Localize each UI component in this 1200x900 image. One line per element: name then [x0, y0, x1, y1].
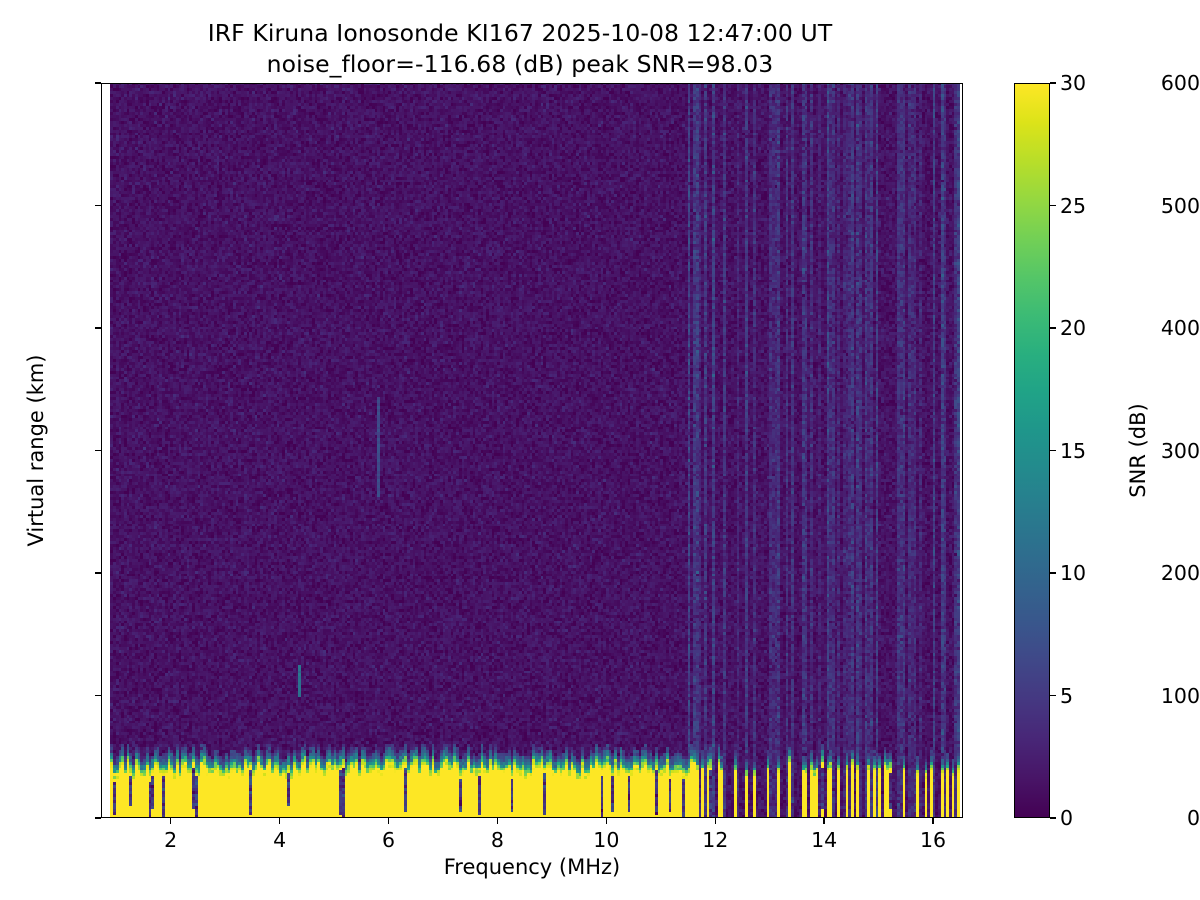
x-tick-mark [170, 818, 171, 824]
y-tick-mark [95, 817, 101, 818]
colorbar-tick-label: 0 [1060, 806, 1073, 830]
colorbar-tick-mark [1050, 82, 1056, 83]
colorbar-tick-mark [1050, 327, 1056, 328]
x-tick-label: 14 [789, 828, 859, 852]
colorbar-tick-mark [1050, 572, 1056, 573]
colorbar-tick-mark [1050, 695, 1056, 696]
colorbar-tick-label: 5 [1060, 684, 1073, 708]
x-tick-label: 8 [462, 828, 532, 852]
colorbar-tick-mark [1050, 450, 1056, 451]
title-line-primary: IRF Kiruna Ionosonde KI167 2025-10-08 12… [0, 18, 1040, 49]
x-tick-label: 4 [245, 828, 315, 852]
y-tick-mark [95, 572, 101, 573]
x-tick-label: 16 [898, 828, 968, 852]
colorbar[interactable] [1014, 83, 1050, 818]
colorbar-gradient [1015, 84, 1049, 817]
x-tick-mark [932, 818, 933, 824]
x-tick-mark [715, 818, 716, 824]
y-tick-mark [95, 450, 101, 451]
x-tick-mark [606, 818, 607, 824]
ionogram-figure: IRF Kiruna Ionosonde KI167 2025-10-08 12… [0, 0, 1200, 900]
x-tick-label: 12 [680, 828, 750, 852]
y-tick-mark [95, 82, 101, 83]
x-tick-label: 10 [571, 828, 641, 852]
y-axis-label: Virtual range (km) [24, 83, 48, 818]
colorbar-tick-label: 25 [1060, 194, 1086, 218]
y-tick-mark [95, 205, 101, 206]
title-line-secondary: noise_floor=-116.68 (dB) peak SNR=98.03 [0, 49, 1040, 80]
ionogram-heatmap[interactable] [102, 84, 963, 818]
x-tick-label: 2 [136, 828, 206, 852]
y-tick-mark [95, 695, 101, 696]
x-axis-label: Frequency (MHz) [101, 855, 963, 879]
colorbar-tick-label: 30 [1060, 71, 1086, 95]
plot-area[interactable] [101, 83, 963, 818]
y-tick-mark [95, 327, 101, 328]
colorbar-label: SNR (dB) [1126, 83, 1150, 818]
x-tick-mark [823, 818, 824, 824]
colorbar-tick-label: 20 [1060, 316, 1086, 340]
x-tick-label: 6 [354, 828, 424, 852]
x-tick-mark [497, 818, 498, 824]
colorbar-tick-mark [1050, 205, 1056, 206]
colorbar-tick-label: 10 [1060, 561, 1086, 585]
x-tick-mark [279, 818, 280, 824]
colorbar-tick-mark [1050, 817, 1056, 818]
chart-title: IRF Kiruna Ionosonde KI167 2025-10-08 12… [0, 18, 1040, 79]
colorbar-tick-label: 15 [1060, 439, 1086, 463]
x-tick-mark [388, 818, 389, 824]
